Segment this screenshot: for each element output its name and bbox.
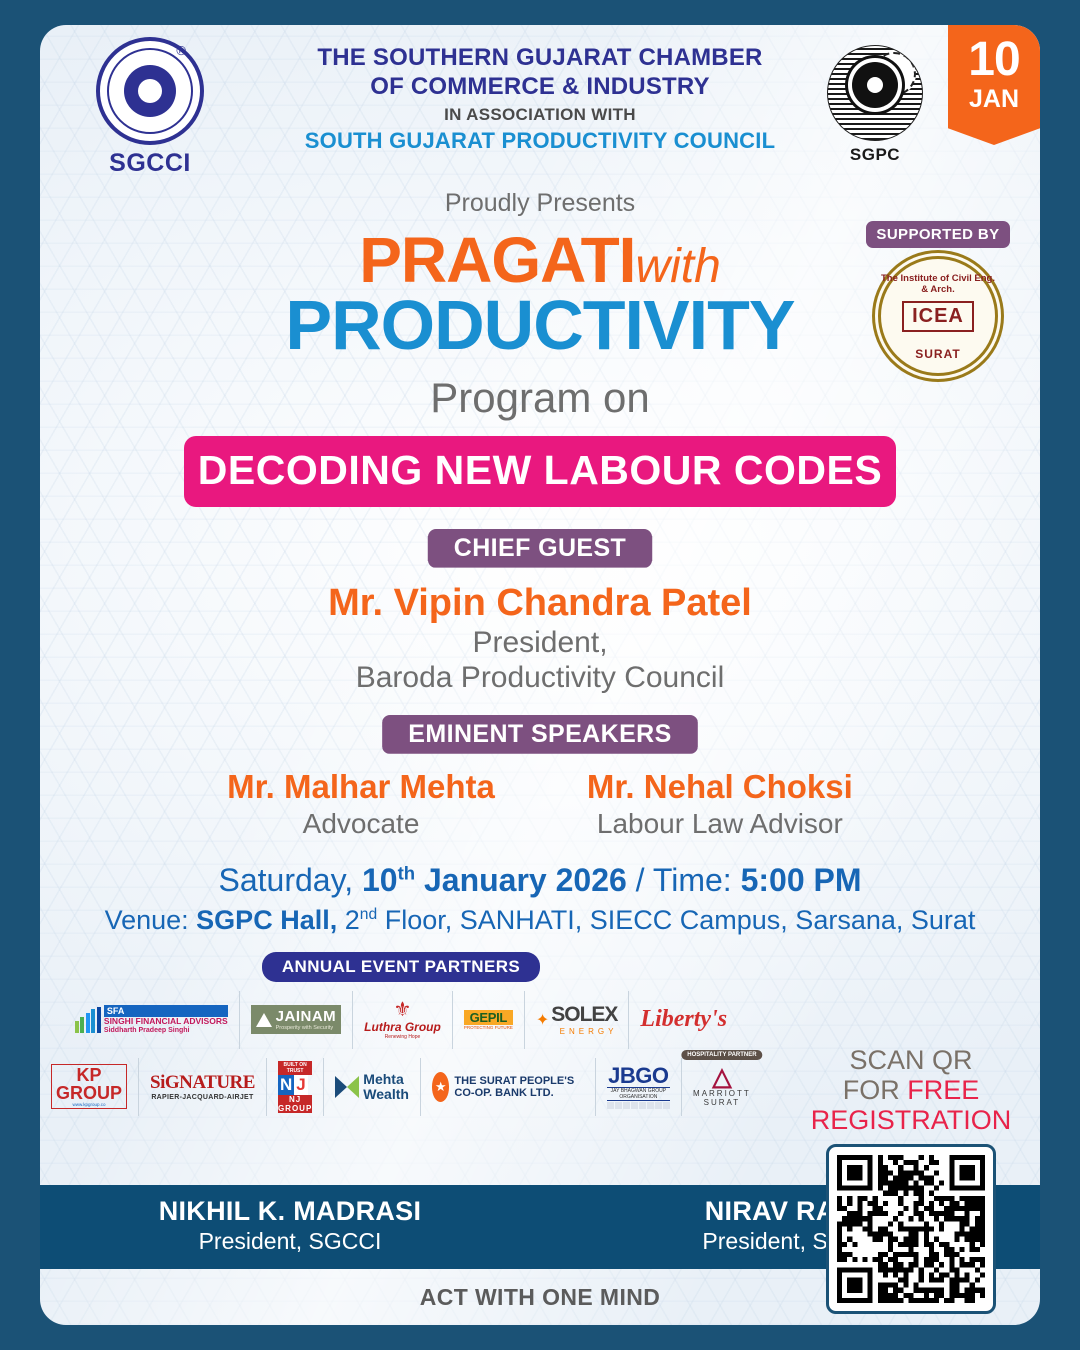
chief-guest-name: Mr. Vipin Chandra Patel: [40, 582, 1040, 625]
partner-logo-gepil: GEPIL PROTECTING FUTURE: [453, 991, 525, 1049]
proudly-presents-text: Proudly Presents: [40, 189, 1040, 218]
signature-name: SiGNATURE: [150, 1072, 255, 1094]
partners-left-column: ANNUAL EVENT PARTNERS SFA SINGHI FINANCI…: [40, 952, 762, 1116]
partner-logo-marriott: HOSPITALITY PARTNER △ MARRIOTT SURAT: [682, 1058, 762, 1116]
speaker-card: Mr. Malhar Mehta Advocate: [227, 768, 495, 840]
sun-icon: ✦: [536, 1010, 549, 1030]
libertys-name: Liberty's: [640, 1006, 727, 1033]
nj-monogram-icon: NJ: [278, 1075, 312, 1095]
m-arrow-icon: [335, 1076, 359, 1098]
triangle-icon: [256, 1013, 272, 1027]
topic-banner: DECODING NEW LABOUR CODES: [184, 436, 896, 507]
venue-label: Venue:: [105, 905, 189, 935]
sgpc-gear-hub-icon: [852, 62, 898, 108]
organizer-line-1: THE SOUTHERN GUJARAT CHAMBER: [250, 43, 830, 72]
supported-by-section: SUPPORTED BY The Institute of Civil Eng.…: [858, 221, 1018, 376]
footer-person-role: President, SGCCI: [40, 1228, 540, 1255]
signature-tagline: RAPIER-JACQUARD-AIRJET: [150, 1094, 255, 1101]
venue-floor-suffix: nd: [360, 906, 377, 923]
association-label: IN ASSOCIATION WITH: [250, 105, 830, 125]
partners-badge-wrap: ANNUAL EVENT PARTNERS: [40, 952, 762, 982]
supported-by-badge: SUPPORTED BY: [866, 221, 1009, 248]
event-month-year: January 2026: [424, 862, 627, 898]
gepil-tagline: PROTECTING FUTURE: [464, 1025, 513, 1030]
event-poster: ® SGCCI THE SOUTHERN GUJARAT CHAMBER OF …: [40, 25, 1040, 1325]
speaker-name: Mr. Malhar Mehta: [227, 768, 495, 806]
qr-line-2: FOR FREE: [796, 1075, 1026, 1105]
sfa-full-name: SINGHI FINANCIAL ADVISORS: [104, 1017, 228, 1026]
event-date-number: 10: [362, 862, 398, 898]
event-day-name: Saturday,: [218, 862, 353, 898]
footer-person-name: NIKHIL K. MADRASI: [40, 1196, 540, 1227]
poster-header: ® SGCCI THE SOUTHERN GUJARAT CHAMBER OF …: [40, 25, 1040, 185]
partner-logo-nj-group: BUILT ON TRUST NJ NJ GROUP: [267, 1058, 324, 1116]
speakers-section: EMINENT SPEAKERS Mr. Malhar Mehta Advoca…: [40, 715, 1040, 840]
partner-logo-row-2: KP GROUP www.kpgroup.co SiGNATURE RAPIER…: [40, 1058, 762, 1116]
venue-address: Floor, SANHATI, SIECC Campus, Sarsana, S…: [385, 905, 976, 935]
speakers-grid: Mr. Malhar Mehta Advocate Mr. Nehal Chok…: [40, 768, 1040, 840]
partner-logo-solex: ✦ SOLEX ENERGY: [525, 991, 630, 1049]
topic-title: DECODING NEW LABOUR CODES: [184, 447, 896, 494]
speaker-role: Advocate: [227, 808, 495, 840]
venue-floor-number: 2: [345, 905, 360, 935]
eminent-speakers-badge: EMINENT SPEAKERS: [382, 715, 697, 754]
partner-logo-luthra: ⚜ Luthra Group Renewing Hope: [353, 991, 453, 1049]
nj-top-tag: BUILT ON TRUST: [278, 1061, 312, 1075]
organizer-text-block: THE SOUTHERN GUJARAT CHAMBER OF COMMERCE…: [250, 43, 830, 154]
program-on-label: Program on: [40, 375, 1040, 421]
sgcci-lotus-icon: [124, 65, 176, 117]
sgcci-logo-label: SGCCI: [70, 149, 230, 178]
jainam-name: JAINAM: [276, 1008, 337, 1025]
chief-guest-badge: CHIEF GUEST: [428, 529, 652, 568]
luthra-name: Luthra Group: [364, 1020, 441, 1034]
date-badge: 10 JAN: [948, 25, 1040, 145]
speaker-card: Mr. Nehal Choksi Labour Law Advisor: [587, 768, 853, 840]
registered-trademark-icon: ®: [176, 43, 186, 58]
sgpc-gear-icon: [827, 45, 923, 141]
solex-name: SOLEX: [551, 1003, 617, 1027]
qr-line-2-prefix: FOR: [843, 1075, 908, 1105]
partner-logo-libertys: Liberty's: [629, 991, 738, 1049]
chief-guest-role-line-2: Baroda Productivity Council: [40, 660, 1040, 695]
partner-logo-signature: SiGNATURE RAPIER-JACQUARD-AIRJET: [139, 1058, 267, 1116]
icea-seal-top-text: The Institute of Civil Eng. & Arch.: [881, 273, 995, 295]
qr-registration-panel[interactable]: SCAN QR FOR FREE REGISTRATION: [796, 1045, 1026, 1314]
event-time-label: Time:: [653, 862, 732, 898]
sgpc-logo-label: SGPC: [810, 145, 940, 165]
pegasus-icon: ⚜: [364, 1000, 441, 1020]
marriott-name: MARRIOTT SURAT: [693, 1089, 751, 1107]
jbgo-fullname: JAY BHAGWAN GROUP ORGANISATION: [607, 1087, 670, 1101]
sfa-subtitle: Siddharth Pradeep Singhi: [104, 1027, 228, 1034]
partner-logo-kp-group: KP GROUP www.kpgroup.co: [40, 1058, 139, 1116]
sgpc-logo: SGPC: [810, 45, 940, 165]
qr-heading: SCAN QR FOR FREE REGISTRATION: [796, 1045, 1026, 1136]
qr-line-1: SCAN QR: [796, 1045, 1026, 1075]
speaker-name: Mr. Nehal Choksi: [587, 768, 853, 806]
sgcci-logo: ® SGCCI: [70, 37, 230, 178]
surat-bank-name: THE SURAT PEOPLE'S CO-OP. BANK LTD.: [454, 1075, 583, 1099]
event-datetime: Saturday, 10th January 2026 / Time: 5:00…: [40, 862, 1040, 899]
date-badge-day: 10: [948, 37, 1040, 83]
date-badge-month: JAN: [948, 85, 1040, 114]
icea-seal-icon: The Institute of Civil Eng. & Arch. ICEA…: [878, 256, 998, 376]
qr-line-3: REGISTRATION: [796, 1105, 1026, 1135]
qr-code-box[interactable]: [826, 1144, 996, 1314]
partner-organization: SOUTH GUJARAT PRODUCTIVITY COUNCIL: [250, 128, 830, 154]
annual-event-partners-badge: ANNUAL EVENT PARTNERS: [262, 952, 540, 982]
icea-seal-core-text: ICEA: [902, 301, 974, 332]
solex-tagline: ENERGY: [551, 1027, 617, 1036]
bank-emblem-icon: ★: [432, 1072, 449, 1102]
footer-person: NIKHIL K. MADRASI President, SGCCI: [40, 1185, 540, 1269]
speaker-role: Labour Law Advisor: [587, 808, 853, 840]
partner-logo-mehta-wealth: Mehta Wealth: [324, 1058, 421, 1116]
chief-guest-section: CHIEF GUEST Mr. Vipin Chandra Patel Pres…: [40, 529, 1040, 695]
partner-logo-jbgo: JBGO JAY BHAGWAN GROUP ORGANISATION: [596, 1058, 682, 1116]
luthra-tagline: Renewing Hope: [364, 1034, 441, 1040]
partner-logo-jainam: JAINAM Prosperity with Security: [240, 991, 354, 1049]
marriott-m-icon: △: [693, 1067, 751, 1090]
hospitality-partner-badge: HOSPITALITY PARTNER: [681, 1050, 762, 1060]
mehta-wealth-name: Mehta Wealth: [363, 1072, 409, 1101]
gepil-name: GEPIL: [464, 1010, 513, 1025]
nj-name: NJ GROUP: [278, 1095, 312, 1113]
event-time-value: 5:00 PM: [741, 862, 862, 898]
kp-name: KP GROUP: [56, 1066, 122, 1102]
kp-website: www.kpgroup.co: [56, 1102, 122, 1107]
icea-seal-bottom-text: SURAT: [881, 347, 995, 361]
venue-hall: SGPC Hall,: [196, 905, 337, 935]
jbgo-brand-strip: [607, 1102, 670, 1109]
event-venue: Venue: SGPC Hall, 2nd Floor, SANHATI, SI…: [40, 905, 1040, 936]
jainam-tagline: Prosperity with Security: [276, 1025, 337, 1031]
partner-logo-sfa: SFA SINGHI FINANCIAL ADVISORS Siddharth …: [64, 991, 240, 1049]
sgcci-seal-icon: ®: [96, 37, 204, 145]
datetime-separator: /: [636, 862, 645, 898]
partner-logo-surat-bank: ★ THE SURAT PEOPLE'S CO-OP. BANK LTD.: [421, 1058, 596, 1116]
bar-chart-icon: [75, 1007, 101, 1033]
qr-code-image[interactable]: [837, 1155, 985, 1303]
qr-free-highlight: FREE: [907, 1075, 979, 1105]
jbgo-name: JBGO: [607, 1065, 670, 1087]
partner-logo-row-1: SFA SINGHI FINANCIAL ADVISORS Siddharth …: [40, 991, 762, 1049]
chief-guest-role-line-1: President,: [40, 625, 1040, 660]
event-date-suffix: th: [398, 862, 416, 883]
organizer-line-2: OF COMMERCE & INDUSTRY: [250, 72, 830, 101]
